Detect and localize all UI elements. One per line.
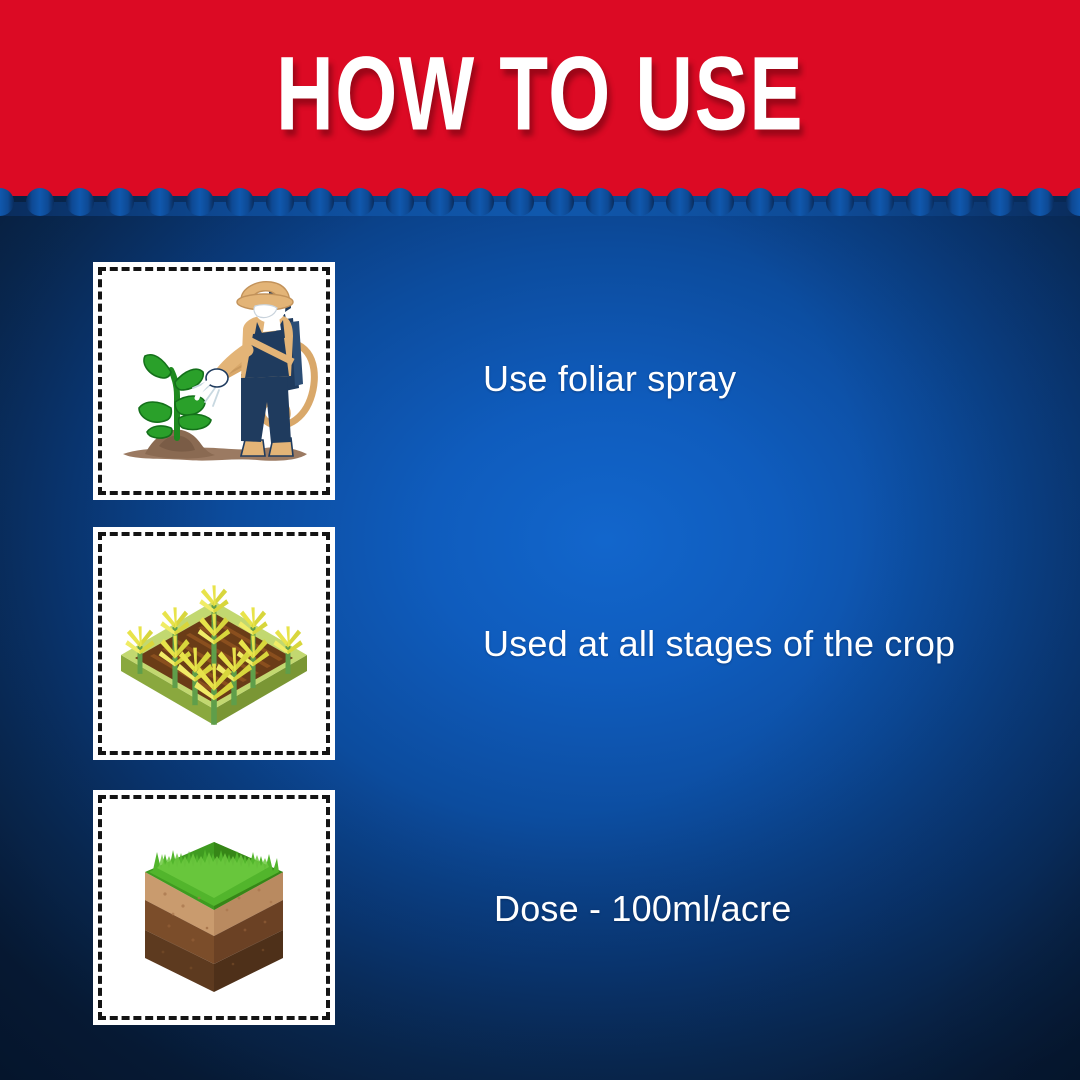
step-label-use-foliar-spray: Use foliar spray xyxy=(483,358,736,399)
scalloped-divider xyxy=(0,182,1080,216)
step-label-used-at-all-stages: Used at all stages of the crop xyxy=(483,623,955,664)
step-card-2 xyxy=(93,527,335,760)
poster-root: HOW TO USE xyxy=(0,0,1080,1080)
step-card-1 xyxy=(93,262,335,500)
step-label-dose: Dose - 100ml/acre xyxy=(494,888,792,929)
step-card-2-dashed-frame xyxy=(98,532,330,755)
soil-cross-section-icon xyxy=(107,806,321,1010)
step-card-1-dashed-frame xyxy=(98,267,330,495)
step-card-3 xyxy=(93,790,335,1025)
header-banner: HOW TO USE xyxy=(0,0,1080,196)
isometric-crop-field-icon xyxy=(107,543,321,745)
step-card-3-dashed-frame xyxy=(98,795,330,1020)
farmer-spraying-plant-icon xyxy=(107,278,321,484)
